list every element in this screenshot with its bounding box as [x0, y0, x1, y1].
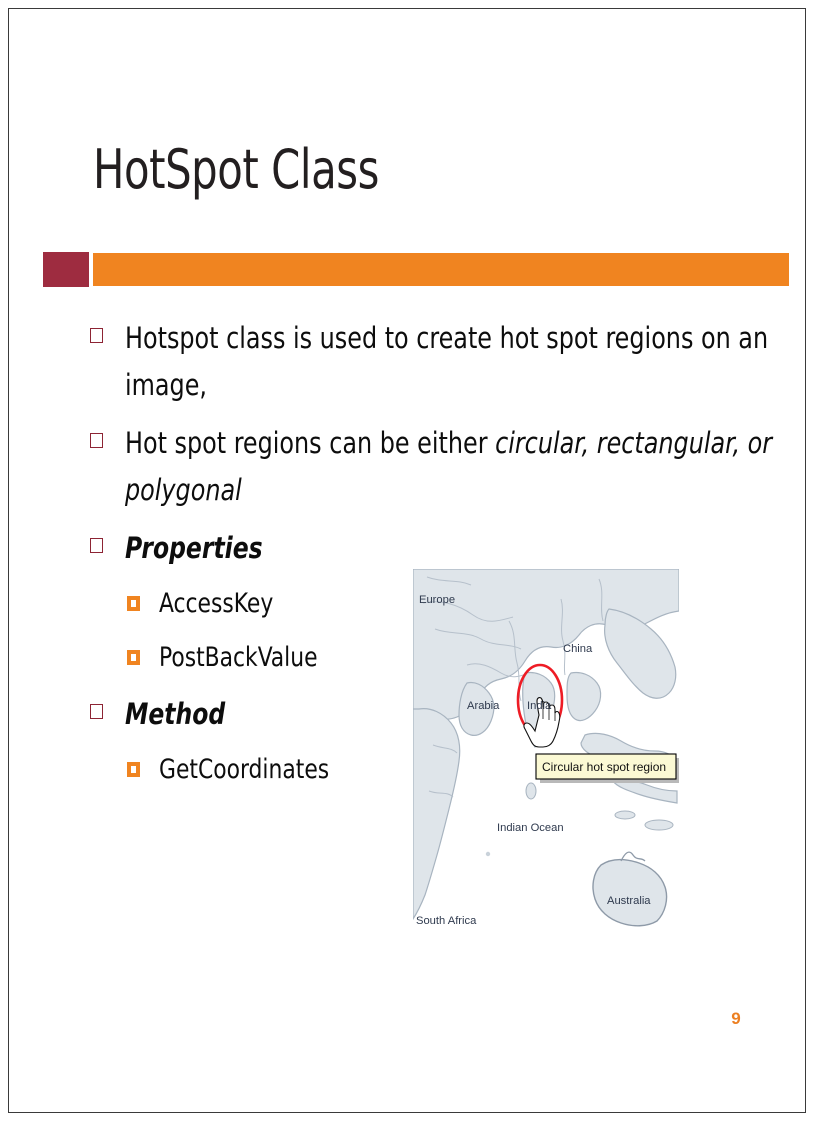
tooltip-label: Circular hot spot region: [542, 760, 666, 774]
map-label-indian-ocean: Indian Ocean: [497, 822, 564, 834]
orange-square-bullet-icon: [127, 762, 140, 777]
square-bullet-icon: [90, 538, 103, 553]
square-bullet-icon: [90, 328, 103, 343]
divider-accent-square: [43, 252, 89, 287]
bullet-text: Hot spot regions can be either circular,…: [125, 420, 786, 514]
slide-canvas: HotSpot Class Hotspot class is used to c…: [9, 9, 805, 1112]
square-bullet-icon: [90, 704, 103, 719]
landmass-small-island: [615, 811, 635, 819]
map-label-arabia: Arabia: [467, 700, 500, 712]
map-label-south-africa: South Africa: [416, 915, 477, 927]
orange-square-bullet-icon: [127, 596, 140, 611]
bullet-level1: Hot spot regions can be either circular,…: [87, 420, 787, 514]
bullet-level1-properties: Properties: [87, 525, 787, 572]
map-label-india: India: [527, 700, 552, 712]
bullet-heading-text: Properties: [125, 525, 786, 572]
map-screenshot-image: Circular hot spot region Europe China Ar…: [413, 569, 679, 927]
square-bullet-icon: [90, 433, 103, 448]
bullet-text: Hotspot class is used to create hot spot…: [125, 315, 786, 409]
orange-square-bullet-icon: [127, 650, 140, 665]
page-title: HotSpot Class: [93, 140, 379, 200]
tooltip-callout: Circular hot spot region: [536, 754, 679, 783]
map-illustration: Circular hot spot region Europe China Ar…: [413, 569, 679, 927]
bullet-level1: Hotspot class is used to create hot spot…: [87, 315, 787, 409]
landmass-tiny-island: [486, 852, 490, 856]
map-label-europe: Europe: [419, 594, 455, 606]
map-label-australia: Australia: [607, 895, 651, 907]
landmass-small-island: [645, 820, 673, 830]
title-divider: [34, 252, 789, 294]
divider-orange-bar: [93, 253, 789, 286]
map-label-china: China: [563, 643, 593, 655]
page-number: 9: [721, 1009, 751, 1029]
bullet-text-lead: Hot spot regions can be either: [125, 426, 495, 460]
landmass-sri-lanka: [526, 783, 536, 799]
